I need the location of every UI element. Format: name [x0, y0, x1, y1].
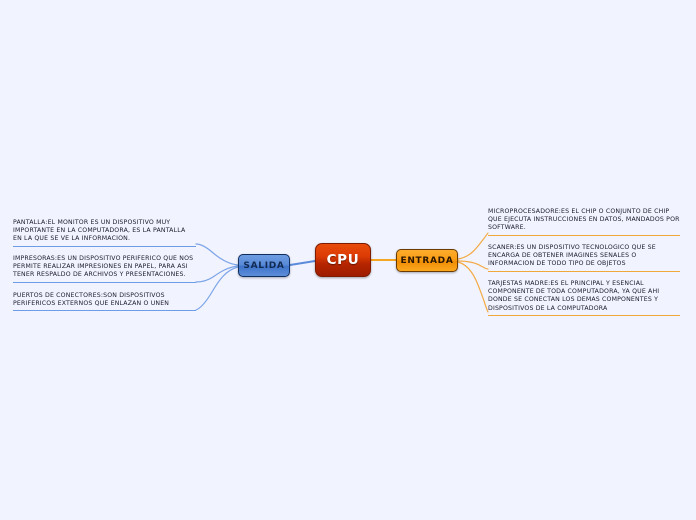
- connector-entrada-to-microprocesadore: [458, 233, 488, 259]
- leaf-tarjetas-madre[interactable]: TARJESTAS MADRE:ES EL PRINCIPAL Y ESENCI…: [488, 280, 680, 316]
- leaf-pantalla-text: PANTALLA:EL MONITOR ES UN DISPOSITIVO MU…: [13, 219, 196, 244]
- leaf-puertos[interactable]: PUERTOS DE CONECTORES:SON DISPOSITIVOS P…: [13, 292, 196, 311]
- leaf-microprocesadore[interactable]: MICROPROCESADORE:ES EL CHIP O CONJUNTO D…: [488, 208, 680, 236]
- connector-salida-to-impresoras: [196, 266, 238, 282]
- connector-salida-to-puertos: [196, 267, 238, 310]
- leaf-microprocesadore-text: MICROPROCESADORE:ES EL CHIP O CONJUNTO D…: [488, 208, 680, 233]
- leaf-impresoras-text: IMPRESORAS:ES UN DISPOSITIVO PERIFERICO …: [13, 255, 196, 280]
- leaf-tarjetas-madre-text: TARJESTAS MADRE:ES EL PRINCIPAL Y ESENCI…: [488, 280, 680, 313]
- leaf-scaner[interactable]: SCANER:ES UN DISPOSITIVO TECNOLOGICO QUE…: [488, 244, 680, 272]
- leaf-pantalla[interactable]: PANTALLA:EL MONITOR ES UN DISPOSITIVO MU…: [13, 219, 196, 247]
- mindmap-canvas: CPU SALIDA ENTRADA PANTALLA:EL MONITOR E…: [0, 0, 696, 520]
- leaf-puertos-text: PUERTOS DE CONECTORES:SON DISPOSITIVOS P…: [13, 292, 196, 308]
- connector-entrada-to-tarjetas: [458, 262, 488, 312]
- node-salida-label: SALIDA: [243, 261, 284, 271]
- node-cpu[interactable]: CPU: [315, 243, 371, 277]
- connector-entrada-to-scaner: [458, 261, 488, 269]
- node-entrada-label: ENTRADA: [400, 256, 453, 266]
- connector-cpu-to-salida: [290, 261, 315, 265]
- node-salida[interactable]: SALIDA: [238, 254, 290, 277]
- node-entrada[interactable]: ENTRADA: [396, 249, 458, 272]
- leaf-impresoras[interactable]: IMPRESORAS:ES UN DISPOSITIVO PERIFERICO …: [13, 255, 196, 283]
- connector-salida-to-pantalla: [196, 244, 238, 265]
- node-cpu-label: CPU: [327, 252, 360, 268]
- leaf-scaner-text: SCANER:ES UN DISPOSITIVO TECNOLOGICO QUE…: [488, 244, 680, 269]
